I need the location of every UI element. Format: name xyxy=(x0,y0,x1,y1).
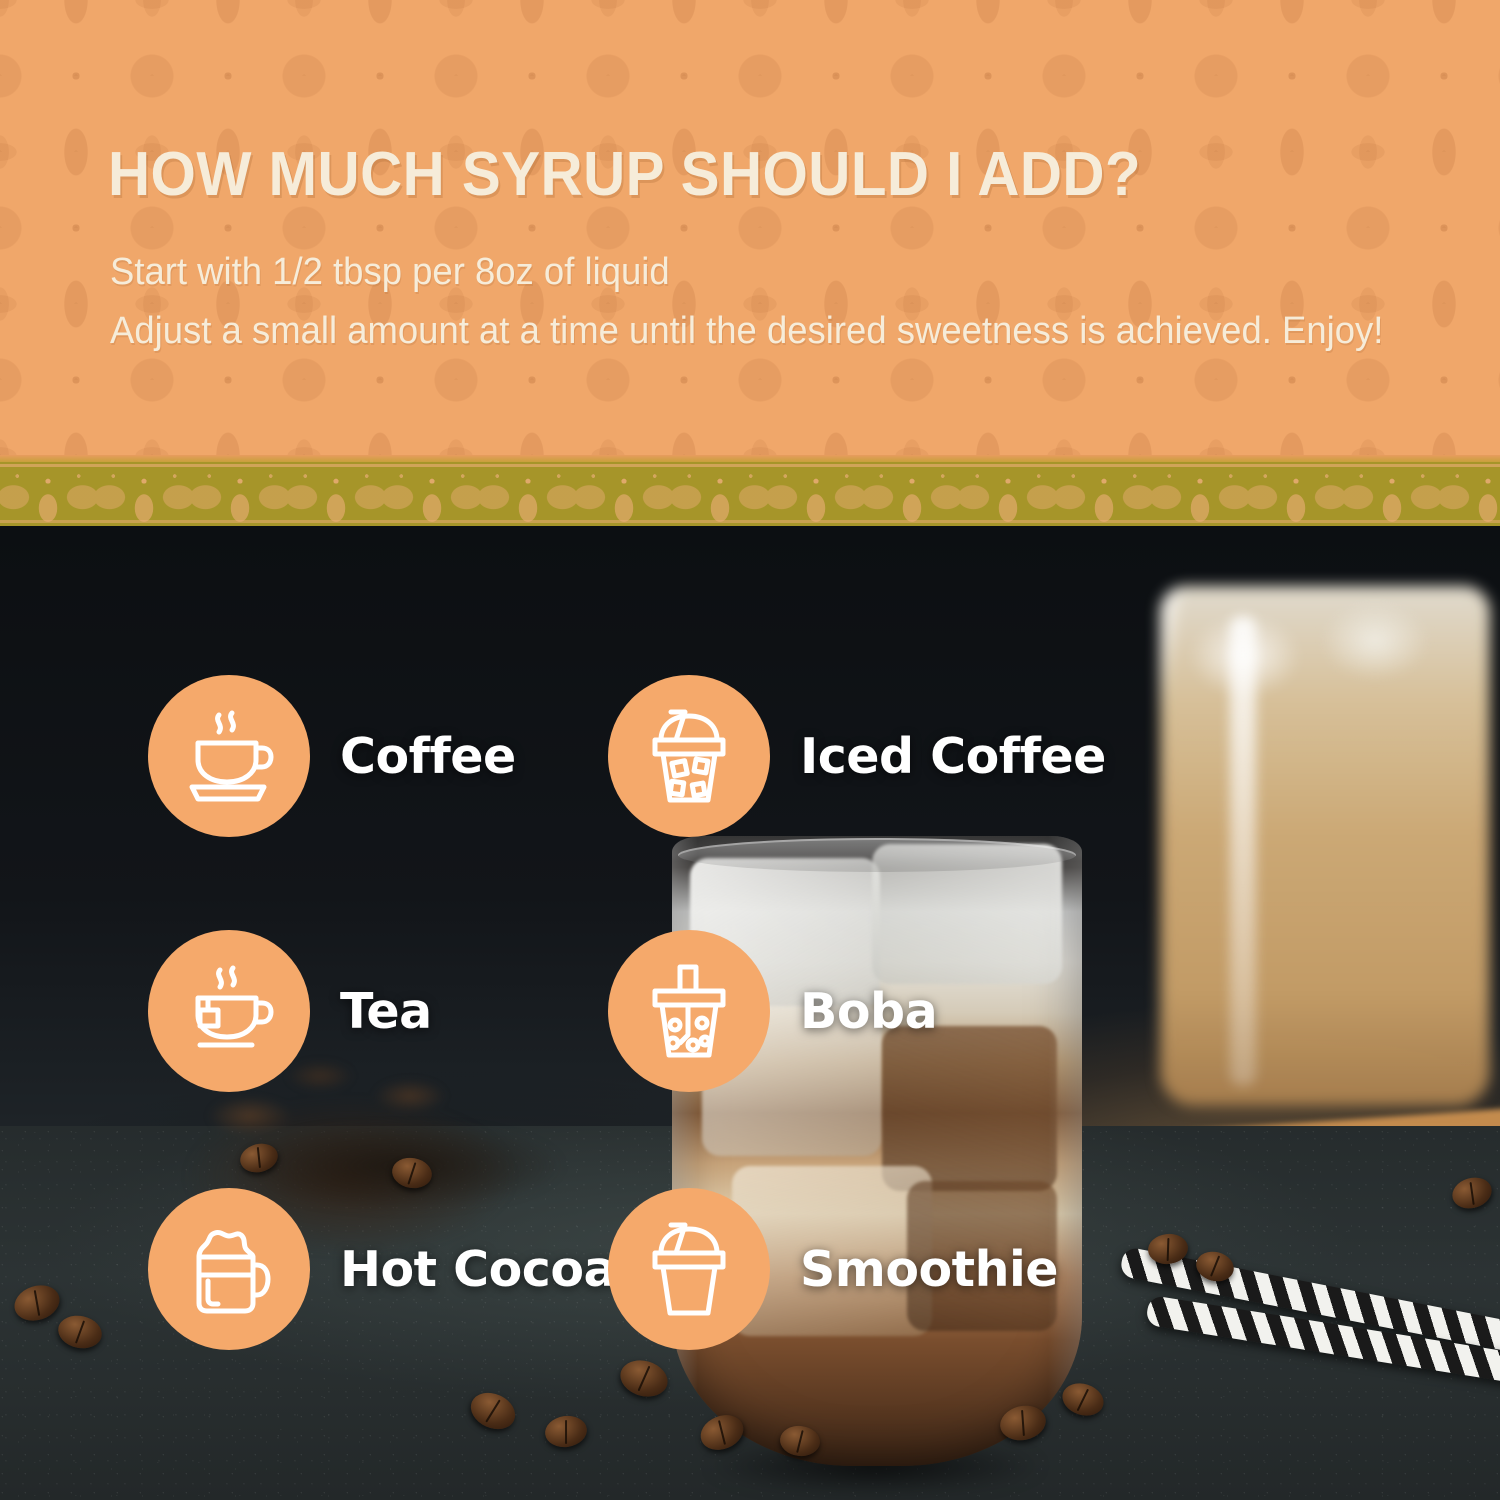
list-item-boba[interactable]: Boba xyxy=(608,930,937,1092)
smoothie-cup-icon xyxy=(608,1188,770,1350)
list-item-tea[interactable]: Tea xyxy=(148,930,432,1092)
damask-pattern-overlay xyxy=(0,0,1500,462)
divider-top-edge xyxy=(0,455,1500,462)
instruction-line-1: Start with 1/2 tbsp per 8oz of liquid xyxy=(110,250,670,296)
list-item-coffee[interactable]: Coffee xyxy=(148,675,516,837)
list-item-label: Iced Coffee xyxy=(800,728,1106,785)
band-line-bottom xyxy=(0,520,1500,523)
list-item-smoothie[interactable]: Smoothie xyxy=(608,1188,1058,1350)
list-item-label: Hot Cocoa xyxy=(340,1241,616,1298)
infographic-page: HOW MUCH SYRUP SHOULD I ADD? Start with … xyxy=(0,0,1500,1500)
list-item-hot-cocoa[interactable]: Hot Cocoa xyxy=(148,1188,616,1350)
list-item-label: Tea xyxy=(340,983,432,1040)
list-item-iced-coffee[interactable]: Iced Coffee xyxy=(608,675,1106,837)
decorative-divider-band xyxy=(0,462,1500,526)
beverage-list: Coffee Iced Coffee xyxy=(0,526,1500,1500)
coffee-cup-icon xyxy=(148,675,310,837)
list-item-label: Boba xyxy=(800,983,937,1040)
page-title: HOW MUCH SYRUP SHOULD I ADD? xyxy=(108,144,1141,206)
hot-cocoa-icon xyxy=(148,1188,310,1350)
header-banner: HOW MUCH SYRUP SHOULD I ADD? Start with … xyxy=(0,0,1500,462)
instruction-line-2: Adjust a small amount at a time until th… xyxy=(110,309,1383,355)
iced-coffee-icon xyxy=(608,675,770,837)
list-item-label: Smoothie xyxy=(800,1241,1058,1298)
list-item-label: Coffee xyxy=(340,728,516,785)
tea-cup-icon xyxy=(148,930,310,1092)
band-line-top xyxy=(0,464,1500,467)
boba-cup-icon xyxy=(608,930,770,1092)
leaf-border-pattern xyxy=(0,462,1500,526)
